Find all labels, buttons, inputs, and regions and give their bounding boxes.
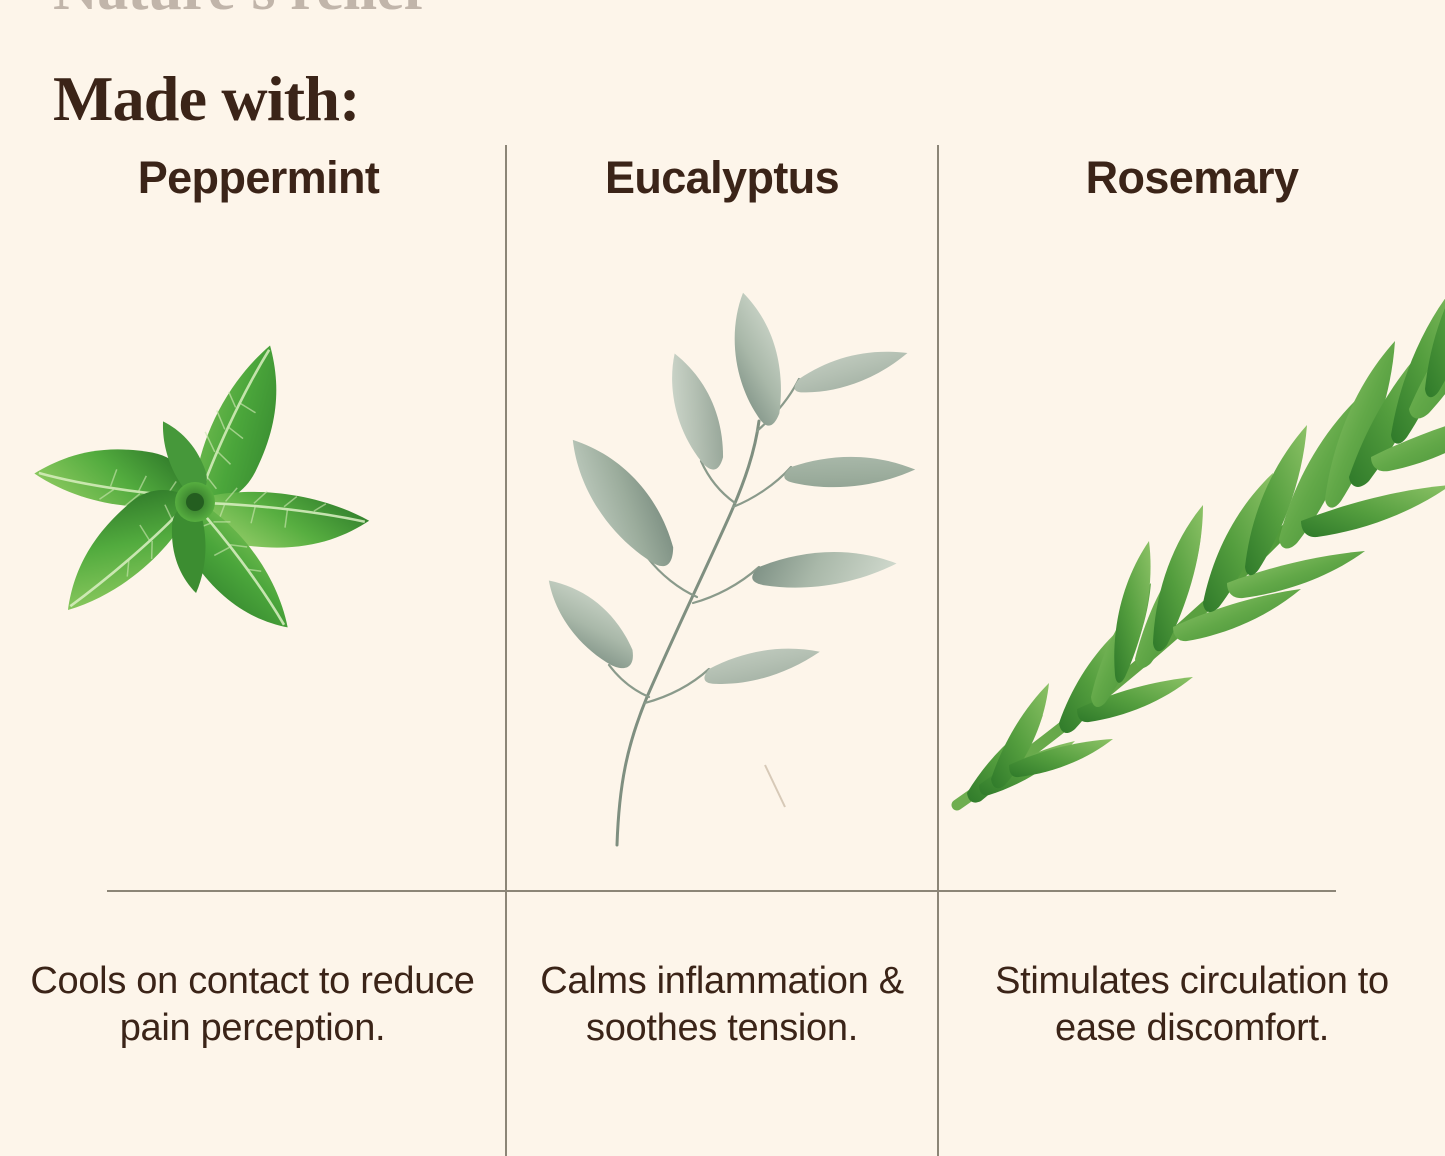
ingredient-columns: Peppermint: [0, 0, 1445, 1156]
peppermint-sprig-icon: [0, 245, 505, 865]
ingredient-column-eucalyptus: Eucalyptus: [507, 0, 937, 1156]
ingredient-description-eucalyptus: Calms inflammation & soothes tension.: [507, 958, 937, 1052]
ingredient-column-peppermint: Peppermint: [0, 0, 505, 1156]
ingredient-name-eucalyptus: Eucalyptus: [507, 152, 937, 204]
ingredient-panel: Nature's relief Made with: Peppermint: [0, 0, 1445, 1156]
ingredient-name-rosemary: Rosemary: [939, 152, 1445, 204]
ingredient-description-rosemary: Stimulates circulation to ease discomfor…: [939, 958, 1445, 1052]
ingredient-description-peppermint: Cools on contact to reduce pain percepti…: [0, 958, 505, 1052]
eucalyptus-branch-icon: [507, 245, 937, 865]
rosemary-sprig-icon: [939, 245, 1445, 865]
ingredient-column-rosemary: Rosemary: [939, 0, 1445, 1156]
ingredient-name-peppermint: Peppermint: [0, 152, 511, 204]
